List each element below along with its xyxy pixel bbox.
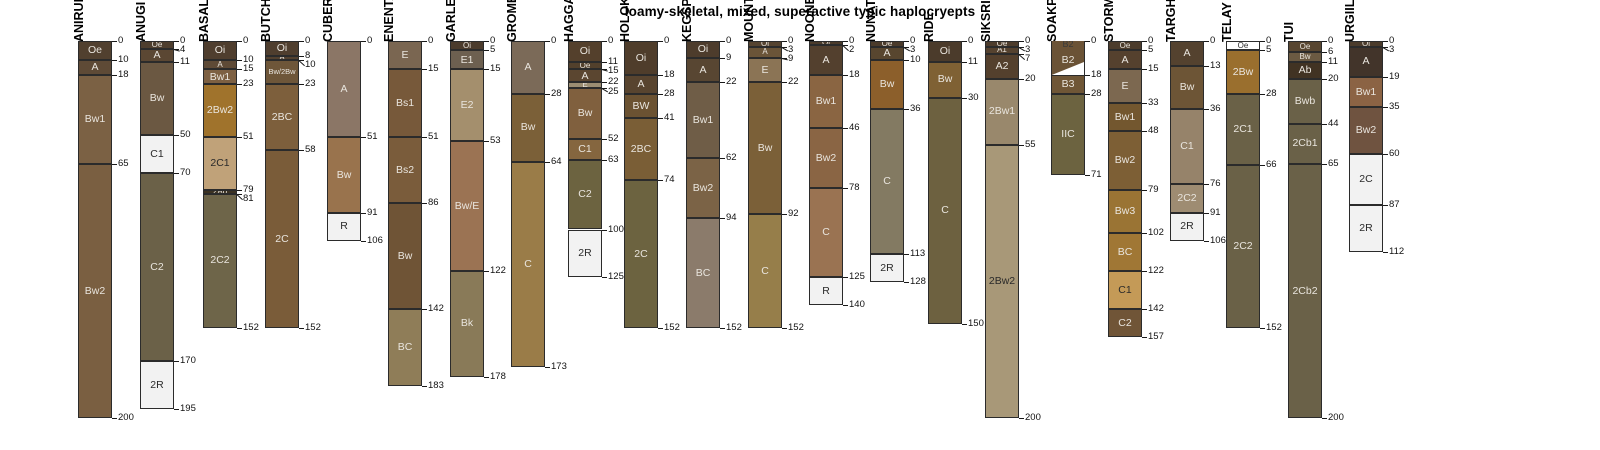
profile-name-label: ANUGI xyxy=(134,2,148,42)
depth-tick xyxy=(1260,165,1265,166)
depth-tick xyxy=(602,230,607,231)
profile-name-label: MOUNTEDITH xyxy=(742,0,756,42)
horizon-oi: Oi xyxy=(624,41,658,75)
horizon-bw1: Bw1 xyxy=(203,69,237,84)
depth-label: 0 xyxy=(1091,35,1096,46)
horizon-label: Bw2 xyxy=(85,286,105,297)
horizon-label: Oe xyxy=(152,41,163,49)
horizon-label: E xyxy=(761,65,768,76)
depth-label: 0 xyxy=(428,35,433,46)
depth-label: 0 xyxy=(968,35,973,46)
depth-label: 15 xyxy=(428,63,439,74)
horizon-label: Oi xyxy=(580,46,591,57)
horizon-label: 2C2 xyxy=(1177,193,1196,204)
horizon-e1: E1 xyxy=(450,50,484,69)
depth-label: 0 xyxy=(1328,35,1333,46)
horizon-label: IIC xyxy=(1061,129,1074,140)
horizon-label: E xyxy=(401,50,408,61)
depth-tick xyxy=(1322,164,1327,165)
depth-label: 70 xyxy=(180,167,191,178)
horizon-label: 2R xyxy=(150,380,163,391)
depth-tick xyxy=(1260,50,1265,51)
depth-tick xyxy=(720,41,725,42)
depth-tick xyxy=(174,41,179,42)
depth-tick xyxy=(545,367,550,368)
horizon-2r: 2R xyxy=(1170,213,1204,241)
horizon-label: Bw xyxy=(398,251,413,262)
depth-tick xyxy=(112,164,117,165)
horizon-label: R xyxy=(822,286,830,297)
depth-tick xyxy=(782,214,787,215)
depth-tick xyxy=(1383,252,1388,253)
horizon-label: Bw1 xyxy=(693,115,713,126)
horizon-oi: Oi xyxy=(568,41,602,62)
horizon-bw: Bw xyxy=(1288,52,1322,61)
horizon-bc: BC xyxy=(686,218,720,327)
horizon-bw2bw: Bw/2Bw xyxy=(265,60,299,85)
depth-label: 58 xyxy=(305,144,316,155)
depth-label: 35 xyxy=(1389,101,1400,112)
horizon-2bc: 2BC xyxy=(624,118,658,180)
horizon-bw1: Bw1 xyxy=(1108,103,1142,131)
depth-tick xyxy=(843,41,848,42)
profile-name-label: ENENTAH xyxy=(382,0,396,42)
horizon-bw2: Bw2 xyxy=(686,158,720,218)
horizon-label: A xyxy=(883,48,890,59)
horizon-bw2: Bw2 xyxy=(1349,107,1383,154)
horizon-label: E1 xyxy=(461,55,474,66)
profile-name-label: HOLOKUKFAMILY xyxy=(618,0,632,42)
profile-name-label: TELAY xyxy=(1220,2,1234,42)
horizon-label: A xyxy=(1362,56,1369,67)
horizon-label: Oi xyxy=(277,43,288,54)
depth-tick xyxy=(361,137,366,138)
horizon-a: A xyxy=(78,60,112,75)
depth-tick xyxy=(484,271,489,272)
depth-label: 183 xyxy=(428,380,444,391)
horizon-label: 2C2 xyxy=(210,255,229,266)
depth-tick xyxy=(237,137,242,138)
horizon-label: Oe xyxy=(1238,42,1249,50)
horizon-label: Bw2 xyxy=(693,183,713,194)
horizon-label: Bw xyxy=(1180,82,1195,93)
horizon-2c2: 2C2 xyxy=(203,194,237,328)
horizon-label: A xyxy=(217,61,222,69)
horizon-bw: Bw xyxy=(928,62,962,98)
depth-tick xyxy=(112,41,117,42)
horizon-oi: Oi xyxy=(686,41,720,58)
depth-tick xyxy=(782,41,787,42)
depth-tick xyxy=(1142,103,1147,104)
horizon-a: A xyxy=(327,41,361,137)
horizon-bs2: Bs2 xyxy=(388,137,422,203)
depth-label: 22 xyxy=(788,76,799,87)
horizon-a: A xyxy=(809,45,843,75)
depth-label: 100 xyxy=(608,224,624,235)
horizon-oi: Oi xyxy=(203,41,237,60)
depth-tick xyxy=(484,69,489,70)
horizon-label: A xyxy=(581,71,588,82)
depth-label: 142 xyxy=(428,303,444,314)
horizon-a: A xyxy=(1349,47,1383,77)
depth-label: 53 xyxy=(490,135,501,146)
horizon-2c2: 2C2 xyxy=(1170,184,1204,212)
depth-label: 200 xyxy=(1025,412,1041,423)
depth-label: 44 xyxy=(1328,118,1339,129)
depth-tick xyxy=(422,41,427,42)
profile-name-label: NOONEY xyxy=(803,0,817,42)
horizon-label: Bw xyxy=(880,79,895,90)
depth-label: 92 xyxy=(788,208,799,219)
horizon-a1: A1 xyxy=(985,47,1019,55)
horizon-label: C xyxy=(761,266,769,277)
depth-label: 10 xyxy=(305,59,316,70)
depth-tick xyxy=(174,173,179,174)
depth-label: 91 xyxy=(1210,207,1221,218)
horizon-label: Bw2 xyxy=(816,153,836,164)
depth-label: 18 xyxy=(118,69,129,80)
horizon-label: Oi xyxy=(215,45,226,56)
depth-tick xyxy=(602,62,607,63)
depth-tick xyxy=(545,94,550,95)
horizon-label: Bw xyxy=(758,143,773,154)
horizon-oe: Oe xyxy=(1288,41,1322,52)
depth-tick xyxy=(1142,271,1147,272)
depth-label: 152 xyxy=(788,322,804,333)
horizon-bc: BC xyxy=(388,309,422,386)
horizon-a2: A2 xyxy=(985,54,1019,79)
depth-tick xyxy=(962,324,967,325)
horizon-label: A xyxy=(637,79,644,90)
horizon-label: A xyxy=(153,50,160,61)
horizon-label: 2C xyxy=(634,249,647,260)
horizon-bw: BW xyxy=(624,94,658,119)
depth-label: 55 xyxy=(1025,139,1036,150)
horizon-2bw: 2Bw xyxy=(1226,50,1260,93)
horizon-label: Bw1 xyxy=(85,114,105,125)
depth-label: 11 xyxy=(1328,56,1338,67)
profile-name-label: GARLET xyxy=(444,0,458,42)
depth-label: 152 xyxy=(726,322,742,333)
depth-label: 0 xyxy=(608,35,613,46)
depth-label: 106 xyxy=(367,235,383,246)
depth-label: 36 xyxy=(1210,103,1221,114)
horizon-label: Bw1 xyxy=(1115,112,1135,123)
horizon-label: A xyxy=(340,84,347,95)
horizon-r: R xyxy=(809,277,843,305)
depth-label: 86 xyxy=(428,197,439,208)
depth-tick xyxy=(1204,184,1209,185)
horizon-label: C2 xyxy=(578,189,591,200)
depth-tick xyxy=(720,328,725,329)
horizon-2cb1: 2Cb1 xyxy=(1288,124,1322,164)
depth-tick xyxy=(484,41,489,42)
depth-label: 81 xyxy=(243,193,254,204)
horizon-a: A xyxy=(1108,50,1142,69)
horizon-label: C xyxy=(524,259,532,270)
horizon-e: E xyxy=(748,58,782,83)
depth-tick xyxy=(299,150,304,151)
horizon-label: BC xyxy=(696,268,711,279)
depth-tick xyxy=(720,82,725,83)
depth-label: 76 xyxy=(1210,178,1221,189)
horizon-label: 2R xyxy=(880,263,893,274)
horizon-label: BC xyxy=(1118,247,1133,258)
horizon-label: C1 xyxy=(1118,285,1131,296)
depth-tick xyxy=(602,139,607,140)
horizon-bwe: Bw/E xyxy=(450,141,484,271)
horizon-oe: Oe xyxy=(1108,41,1142,50)
depth-tick xyxy=(1383,205,1388,206)
depth-label: 74 xyxy=(664,174,675,185)
depth-tick xyxy=(1322,418,1327,419)
depth-label: 28 xyxy=(664,88,675,99)
depth-tick xyxy=(843,188,848,189)
horizon-label: 2C1 xyxy=(210,158,229,169)
horizon-c1: C1 xyxy=(1170,109,1204,184)
horizon-label: Oe xyxy=(1120,42,1131,50)
horizon-c1: C1 xyxy=(568,139,602,160)
horizon-2r: 2R xyxy=(870,254,904,282)
depth-tick xyxy=(1085,75,1090,76)
horizon-label: 2C1 xyxy=(1233,124,1252,135)
depth-label: 152 xyxy=(664,322,680,333)
depth-tick xyxy=(658,118,663,119)
horizon-label: Bs1 xyxy=(396,98,414,109)
depth-label: 178 xyxy=(490,371,506,382)
horizon-bw: Bw xyxy=(140,62,174,136)
horizon-bw: Bw xyxy=(388,203,422,309)
depth-tick xyxy=(658,41,663,42)
horizon-label: A xyxy=(1183,48,1190,59)
depth-label: 13 xyxy=(1210,60,1221,71)
depth-tick xyxy=(1204,109,1209,110)
depth-tick xyxy=(602,277,607,278)
horizon-c1: C1 xyxy=(140,135,174,173)
profile-name-label: TUI xyxy=(1282,22,1296,42)
horizon-2c: 2C xyxy=(624,180,658,327)
horizon-label: BW xyxy=(633,101,650,112)
profile-name-label: CUBERANT xyxy=(321,0,335,42)
horizon-label: Bw2 xyxy=(1356,125,1376,136)
horizon-c2: C2 xyxy=(568,160,602,230)
depth-label: 23 xyxy=(305,78,316,89)
horizon-bw2: Bw2 xyxy=(809,128,843,188)
depth-tick xyxy=(422,69,427,70)
depth-tick xyxy=(237,190,242,191)
horizon-label: 2Bw xyxy=(1233,67,1253,78)
depth-label: 30 xyxy=(968,92,979,103)
horizon-2r: 2R xyxy=(568,230,602,277)
depth-tick xyxy=(1142,41,1147,42)
depth-label: 0 xyxy=(551,35,556,46)
horizon-label: BC xyxy=(398,342,413,353)
horizon-oe: Oe xyxy=(78,41,112,60)
profile-name-label: SIKSRIK xyxy=(979,0,993,42)
depth-label: 15 xyxy=(608,65,619,76)
depth-tick xyxy=(658,328,663,329)
depth-tick xyxy=(658,180,663,181)
depth-label: 28 xyxy=(1266,88,1277,99)
depth-label: 150 xyxy=(968,318,984,329)
depth-label: 52 xyxy=(608,133,619,144)
depth-label: 11 xyxy=(180,56,190,67)
horizon-bw1: Bw1 xyxy=(809,75,843,128)
horizon-label: 2R xyxy=(1180,221,1193,232)
depth-tick xyxy=(1204,41,1209,42)
horizon-2bc: 2BC xyxy=(265,84,299,150)
horizon-a: A xyxy=(1170,41,1204,66)
depth-label: 22 xyxy=(726,76,737,87)
depth-label: 5 xyxy=(490,44,495,55)
horizon-label: Ab xyxy=(1299,65,1312,76)
horizon-label: 2Bw2 xyxy=(989,276,1015,287)
depth-tick xyxy=(112,60,117,61)
horizon-label: Oe xyxy=(1300,43,1311,51)
depth-label: 18 xyxy=(1091,69,1102,80)
depth-tick xyxy=(962,98,967,99)
depth-tick xyxy=(422,203,427,204)
horizon-label: A2 xyxy=(996,61,1009,72)
depth-label: 48 xyxy=(1148,125,1159,136)
depth-tick xyxy=(1019,41,1024,42)
horizon-label: A xyxy=(699,65,706,76)
horizon-label: A xyxy=(91,62,98,73)
depth-tick xyxy=(1260,94,1265,95)
horizon-2c: 2C xyxy=(1349,154,1383,205)
horizon-label: 2Cb1 xyxy=(1292,138,1317,149)
horizon-2c1: 2C1 xyxy=(1226,94,1260,166)
depth-tick xyxy=(237,84,242,85)
depth-tick xyxy=(962,41,967,42)
depth-tick xyxy=(1322,41,1327,42)
horizon-label: C1 xyxy=(578,144,591,155)
depth-tick xyxy=(843,75,848,76)
depth-tick xyxy=(484,377,489,378)
horizon-label: C2 xyxy=(150,262,163,273)
depth-label: 65 xyxy=(1328,158,1339,169)
depth-tick xyxy=(1142,337,1147,338)
horizon-label: Bw1 xyxy=(210,72,230,83)
depth-tick xyxy=(1204,213,1209,214)
profile-name-label: BASALTLAKE xyxy=(197,0,211,42)
horizon-bwb: Bwb xyxy=(1288,79,1322,124)
depth-tick xyxy=(602,82,607,83)
depth-label: 94 xyxy=(726,212,737,223)
depth-tick xyxy=(174,361,179,362)
horizon-label: Bw2 xyxy=(1115,155,1135,166)
depth-label: 5 xyxy=(1148,44,1153,55)
horizon-c: C xyxy=(870,109,904,254)
depth-label: 200 xyxy=(118,412,134,423)
horizon-label: 2C xyxy=(1359,174,1372,185)
depth-label: 33 xyxy=(1148,97,1159,108)
depth-label: 36 xyxy=(910,103,921,114)
depth-tick xyxy=(1142,131,1147,132)
depth-tick xyxy=(174,135,179,136)
horizon-b3: B3 xyxy=(1051,75,1085,94)
depth-tick xyxy=(904,254,909,255)
depth-label: 112 xyxy=(1389,246,1404,257)
horizon-label: A xyxy=(822,55,829,66)
depth-label: 195 xyxy=(180,403,196,414)
depth-label: 106 xyxy=(1210,235,1226,246)
depth-label: 87 xyxy=(1389,199,1400,210)
horizon-label: 2Bw2 xyxy=(207,105,233,116)
depth-label: 15 xyxy=(490,63,501,74)
horizon-label: Bw xyxy=(1299,53,1310,61)
horizon-label: Bw/E xyxy=(455,201,480,212)
depth-label: 140 xyxy=(849,299,865,310)
depth-label: 0 xyxy=(118,35,123,46)
soil-profile-plot: ANIRUKOeABw1Bw20101865200ANUGIOeABwC1C22… xyxy=(0,0,1600,450)
profile-name-label: GROMES xyxy=(505,0,519,42)
depth-label: 152 xyxy=(1266,322,1282,333)
depth-label: 15 xyxy=(1148,63,1159,74)
horizon-a: A xyxy=(686,58,720,83)
depth-tick xyxy=(658,94,663,95)
horizon-bw2: Bw2 xyxy=(78,164,112,418)
depth-label: 20 xyxy=(1328,73,1339,84)
depth-tick xyxy=(174,409,179,410)
horizon-2bw2: 2Bw2 xyxy=(203,84,237,137)
depth-label: 7 xyxy=(1025,53,1030,64)
profile-name-label: SOAKPAK xyxy=(1045,0,1059,42)
horizon-label: C xyxy=(822,227,830,238)
horizon-2bw2: 2Bw2 xyxy=(985,145,1019,418)
depth-label: 152 xyxy=(243,322,259,333)
profile-name-label: STORM xyxy=(1102,0,1116,42)
depth-label: 9 xyxy=(726,52,731,63)
horizon-e: E xyxy=(1108,69,1142,103)
depth-tick xyxy=(1085,175,1090,176)
horizon-label: E2 xyxy=(461,100,474,111)
horizon-bw: Bw xyxy=(327,137,361,212)
horizon-label: Bw1 xyxy=(1356,87,1376,98)
horizon-label: 2C xyxy=(275,234,288,245)
horizon-2cb2: 2Cb2 xyxy=(1288,164,1322,418)
depth-tick xyxy=(237,41,242,42)
horizon-2c1: 2C1 xyxy=(203,137,237,190)
depth-tick xyxy=(1142,190,1147,191)
depth-tick xyxy=(112,418,117,419)
depth-label: 28 xyxy=(1091,88,1102,99)
horizon-2r: 2R xyxy=(1349,205,1383,252)
depth-tick xyxy=(962,62,967,63)
depth-tick xyxy=(299,41,304,42)
horizon-label: 2Bw1 xyxy=(989,106,1015,117)
depth-label: 0 xyxy=(1210,35,1215,46)
horizon-a: A xyxy=(203,60,237,69)
depth-tick xyxy=(1383,107,1388,108)
depth-tick xyxy=(1383,77,1388,78)
depth-tick xyxy=(720,218,725,219)
horizon-bc: BC xyxy=(1108,233,1142,271)
depth-label: 51 xyxy=(428,131,439,142)
depth-tick xyxy=(422,386,427,387)
depth-tick xyxy=(1142,69,1147,70)
horizon-bw: Bw xyxy=(511,94,545,162)
horizon-oi: Oi xyxy=(265,41,299,56)
horizon-c: C xyxy=(748,214,782,327)
horizon-label: B3 xyxy=(1062,79,1075,90)
depth-tick xyxy=(361,241,366,242)
horizon-a: A xyxy=(748,47,782,58)
depth-tick xyxy=(904,282,909,283)
depth-label: 125 xyxy=(608,271,624,282)
horizon-a: A xyxy=(140,49,174,62)
horizon-bw: Bw xyxy=(1170,66,1204,109)
